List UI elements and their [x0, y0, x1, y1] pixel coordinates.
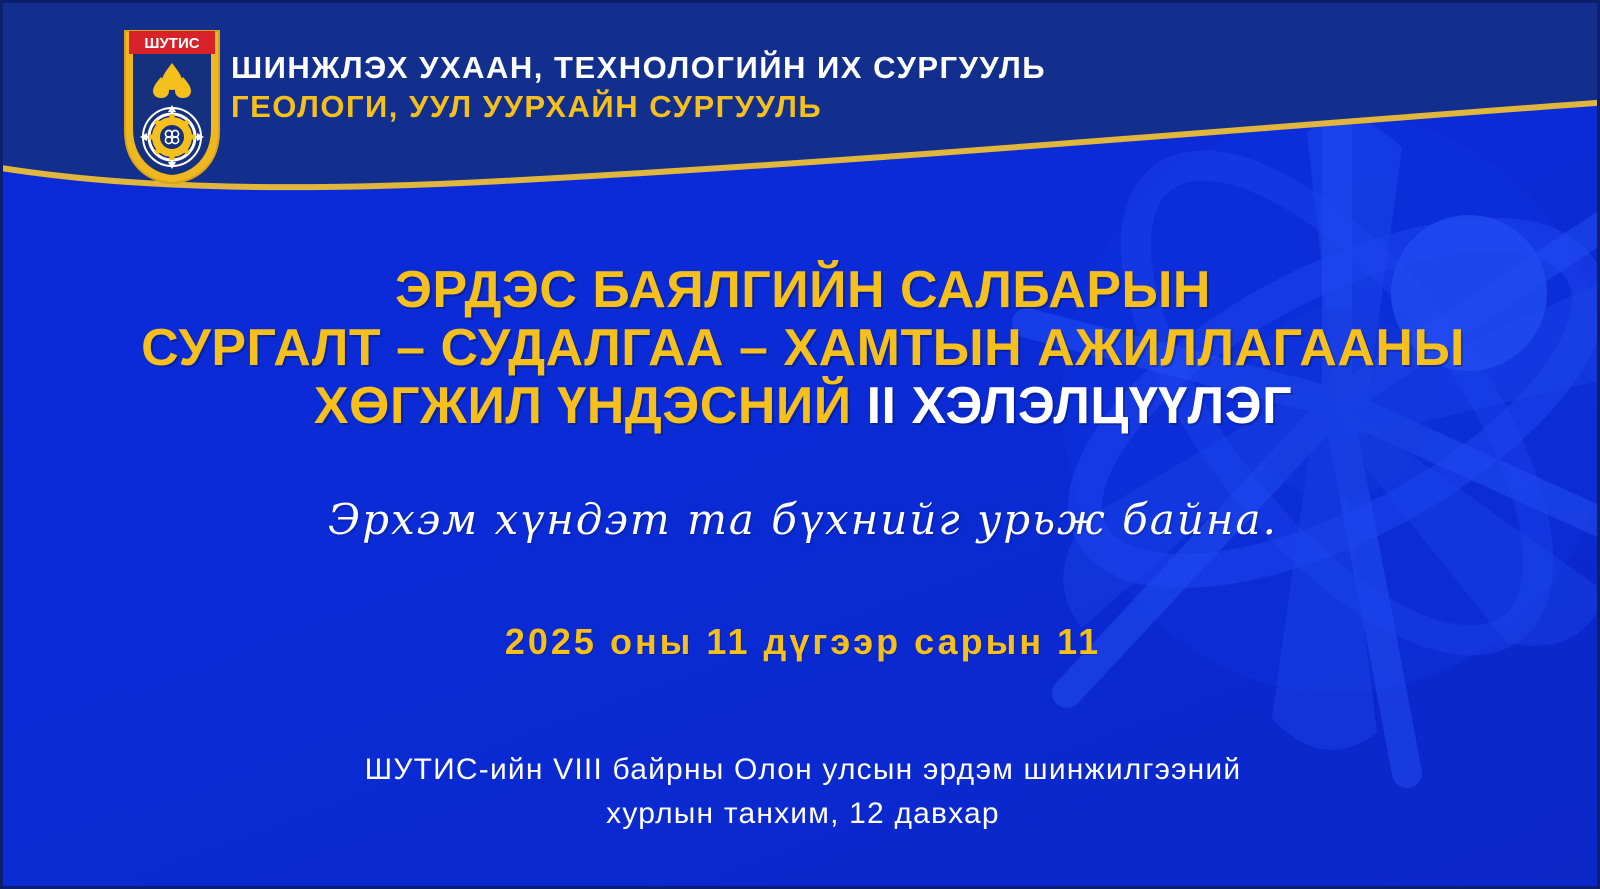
event-title-line2: СУРГАЛТ – СУДАЛГАА – ХАМТЫН АЖИЛЛАГААНЫ: [3, 319, 1600, 377]
event-title: ЭРДЭС БАЯЛГИЙН САЛБАРЫН СУРГАЛТ – СУДАЛГ…: [3, 261, 1600, 435]
invitation-script-text: Эрхэм хүндэт та бүхнийг урьж байна.: [3, 495, 1600, 544]
event-title-line1: ЭРДЭС БАЯЛГИЙН САЛБАРЫН: [3, 261, 1600, 319]
event-title-line3-white: II ХЭЛЭЛЦҮҮЛЭГ: [867, 377, 1293, 435]
institution-name-line1: ШИНЖЛЭХ УХААН, ТЕХНОЛОГИЙН ИХ СУРГУУЛЬ: [231, 49, 1031, 87]
logo-badge-text: ШУТИС: [144, 35, 199, 52]
event-title-line3: ХӨГЖИЛ ҮНДЭСНИЙ II ХЭЛЭЛЦҮҮЛЭГ: [3, 377, 1600, 435]
event-title-line3-gold: ХӨГЖИЛ ҮНДЭСНИЙ: [314, 377, 867, 435]
event-venue-line1: ШУТИС-ийн VIII байрны Олон улсын эрдэм ш…: [3, 748, 1600, 792]
institution-header: ШИНЖЛЭХ УХААН, ТЕХНОЛОГИЙН ИХ СУРГУУЛЬ Г…: [231, 49, 1031, 127]
event-poster: ШУТИС: [0, 0, 1600, 889]
university-logo: ШУТИС: [121, 25, 223, 187]
event-venue-line2: хурлын танхим, 12 давхар: [3, 792, 1600, 836]
institution-name-line2: ГЕОЛОГИ, УУЛ УУРХАЙН СУРГУУЛЬ: [231, 87, 1031, 127]
event-date: 2025 оны 11 дүгээр сарын 11: [3, 621, 1600, 663]
event-venue: ШУТИС-ийн VIII байрны Олон улсын эрдэм ш…: [3, 748, 1600, 836]
